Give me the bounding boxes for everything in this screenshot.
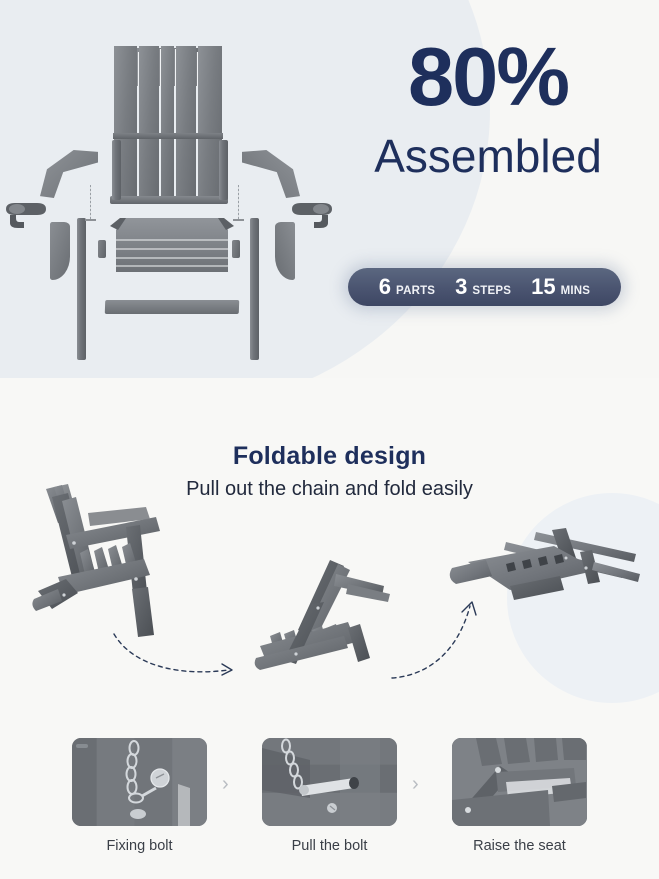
badge-mins-number: 15 [531,276,555,298]
fold-arrow-2 [388,600,498,684]
foldable-title: Foldable design [0,442,659,471]
screw-left [90,185,91,219]
screw-right [238,185,239,219]
back-upright-left [112,140,121,200]
seat-raised-graphic [452,738,587,826]
connector-stub-left [98,240,106,258]
badge-steps-number: 3 [455,276,467,298]
chair-back-rail-upper [113,133,223,139]
chair-back-rail-lower [110,196,228,204]
bolt-pulled-graphic [262,738,397,826]
hero-text-block: 80% Assembled [338,38,638,179]
stats-badge: 6 PARTS 3 STEPS 15 MINS [348,268,621,306]
hero-section: 80% Assembled 6 PARTS 3 STEPS 15 MINS [0,0,659,378]
step-caption-2: Pull the bolt [262,838,397,854]
step-caption-1: Fixing bolt [72,838,207,854]
chair-folding-figure [252,558,402,678]
badge-parts-unit: PARTS [396,285,435,297]
side-wing-right [275,222,295,280]
chair-folded-flat-figure [448,528,643,608]
badge-parts-number: 6 [379,276,391,298]
product-infographic: 80% Assembled 6 PARTS 3 STEPS 15 MINS Fo… [0,0,659,879]
steps-section: › › [0,728,659,879]
badge-item-parts: 6 PARTS [371,276,443,298]
leg-rail-right [250,218,259,360]
step-thumbnail-raise-seat [452,738,587,826]
fold-arrow-1 [110,630,240,680]
chair-seat-assembly [110,216,234,278]
badge-mins-unit: MINS [561,285,591,297]
badge-item-steps: 3 STEPS [447,276,519,298]
seat-top [110,216,234,278]
seat-front-board [105,300,239,314]
assembled-label: Assembled [338,133,638,179]
back-upright-right [219,140,228,200]
step-thumbnail-pull-bolt [262,738,397,826]
percent-assembled-value: 80% [338,38,638,117]
chain-and-bolt-graphic [72,738,207,826]
step-separator-2: › [412,773,419,796]
chair-upright-figure [28,483,213,648]
badge-item-mins: 15 MINS [523,276,598,298]
step-caption-3: Raise the seat [452,838,587,854]
step-thumbnail-fixing-bolt [72,738,207,826]
badge-steps-unit: STEPS [472,285,511,297]
chair-back-slats [114,46,222,196]
foldable-design-section: Foldable design Pull out the chain and f… [0,378,659,728]
step-separator-1: › [222,773,229,796]
leg-rail-left [77,218,86,360]
cup-holder-left [4,200,50,230]
